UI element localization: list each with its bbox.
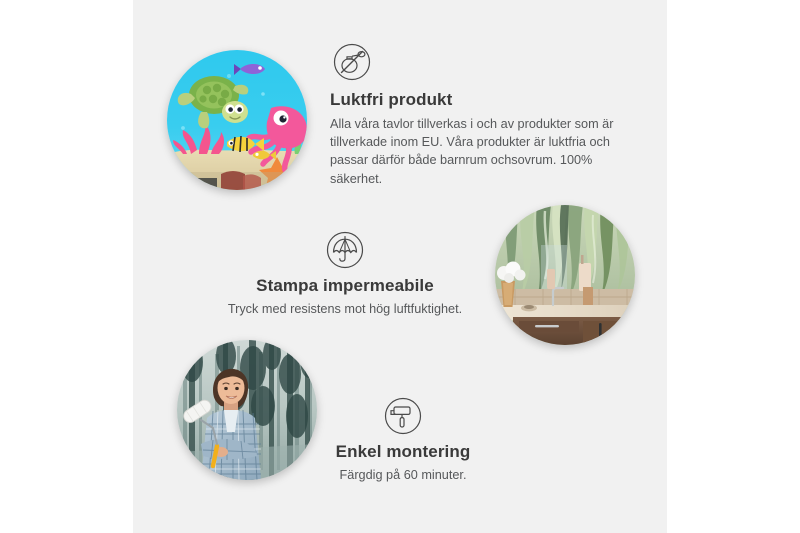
feature-waterproof: Stampa impermeabile Tryck med resistens … [205,230,485,318]
no-odour-perfume-bottle-icon [332,42,372,82]
umbrella-icon [325,230,365,270]
feature-body: Alla våra tavlor tillverkas i och av pro… [330,115,630,188]
photo-underwater [167,50,307,190]
feature-odourless: Luktfri produkt Alla våra tavlor tillver… [330,42,630,188]
feature-assembly: Enkel montering Färgdig på 60 minuter. [283,396,523,484]
feature-title: Stampa impermeabile [205,276,485,296]
feature-body: Färgdig på 60 minuter. [283,466,523,484]
paint-roller-icon [383,396,423,436]
promo-feature-panel: Luktfri produkt Alla våra tavlor tillver… [0,0,800,533]
photo-bathroom [495,205,635,345]
feature-title: Luktfri produkt [330,90,630,110]
feature-body: Tryck med resistens mot hög luftfuktighe… [205,300,485,318]
feature-title: Enkel montering [283,442,523,462]
